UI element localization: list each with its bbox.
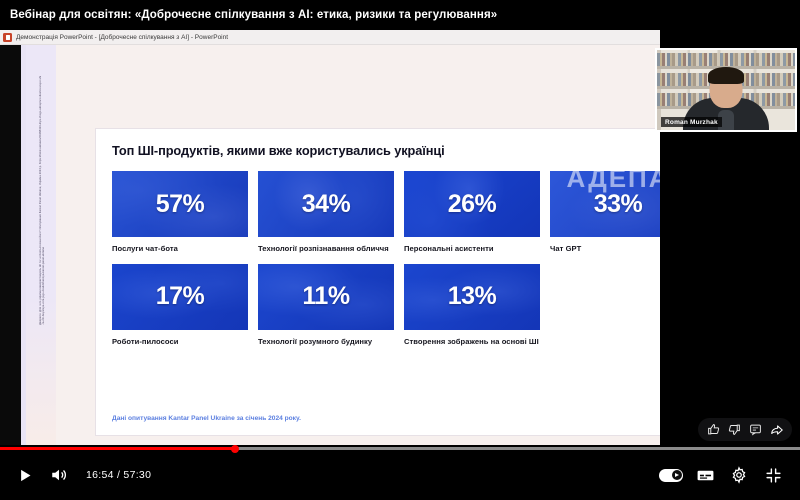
- stat-card-label: Технології розумного будинку: [258, 337, 394, 348]
- stat-card-label: Чат GPT: [550, 244, 660, 255]
- speaker-hair: [708, 67, 744, 84]
- slide-side-strip: Джерело: Для чого українці використовуют…: [26, 45, 56, 445]
- stat-card-image: 13%: [404, 264, 540, 330]
- stat-card-image: 11%: [258, 264, 394, 330]
- stat-card-label: Технології розпізнавання обличчя: [258, 244, 394, 255]
- slide-source-note: Джерело: Для чого українці використовуют…: [40, 75, 46, 325]
- controls-right-group: [654, 458, 800, 492]
- stat-card-label: Послуги чат-бота: [112, 244, 248, 255]
- time-display: 16:54 / 57:30: [76, 469, 159, 481]
- stat-card-percent: 33%: [594, 190, 643, 219]
- progress-played: [0, 447, 235, 450]
- stat-card-image: 26%: [404, 171, 540, 237]
- thumbs-up-icon[interactable]: [705, 421, 722, 438]
- gear-icon[interactable]: [722, 458, 756, 492]
- stat-card: АДЕПА 33% Чат GPT: [550, 171, 660, 255]
- powerpoint-body: Джерело: Для чого українці використовуют…: [0, 45, 660, 445]
- stat-card: 26% Персональні асистенти: [404, 171, 540, 255]
- stat-card-image: 57%: [112, 171, 248, 237]
- stat-card-image: АДЕПА 33%: [550, 171, 660, 237]
- stat-card-percent: 13%: [448, 282, 497, 311]
- play-icon[interactable]: [8, 458, 42, 492]
- progress-bar[interactable]: [0, 447, 800, 450]
- stat-card: 57% Послуги чат-бота: [112, 171, 248, 255]
- stat-card-image: 17%: [112, 264, 248, 330]
- screen-share-region: Демонстрація PowerPoint - [Доброчесне сп…: [0, 30, 800, 445]
- video-player: Вебінар для освітян: «Доброчесне спілкув…: [0, 0, 800, 500]
- stat-card: 17% Роботи-пилососи: [112, 264, 248, 348]
- powerpoint-titlebar: Демонстрація PowerPoint - [Доброчесне сп…: [0, 30, 660, 45]
- speaker-video-tile[interactable]: Roman Murzhak: [655, 48, 797, 132]
- stat-card-label: Персональні асистенти: [404, 244, 540, 255]
- volume-icon[interactable]: [42, 458, 76, 492]
- slide-source-caption: Дані опитування Kantar Panel Ukraine за …: [112, 415, 301, 422]
- comment-icon[interactable]: [747, 421, 764, 438]
- stat-card-percent: 34%: [302, 190, 351, 219]
- webinar-title: Вебінар для освітян: «Доброчесне спілкув…: [0, 9, 497, 21]
- stat-card-label: Роботи-пилососи: [112, 337, 248, 348]
- stat-card-label: Створення зображень на основі ШІ: [404, 337, 540, 348]
- stat-card: 11% Технології розумного будинку: [258, 264, 394, 348]
- stat-card-percent: 11%: [302, 282, 349, 311]
- share-icon[interactable]: [768, 421, 785, 438]
- thumbs-down-icon[interactable]: [726, 421, 743, 438]
- powerpoint-window: Демонстрація PowerPoint - [Доброчесне сп…: [0, 30, 660, 445]
- exit-fullscreen-icon[interactable]: [756, 458, 790, 492]
- stat-card-percent: 17%: [156, 282, 205, 311]
- stat-card-percent: 26%: [448, 190, 497, 219]
- slide-heading: Топ ШІ-продуктів, якими вже користувалис…: [112, 143, 660, 158]
- stat-card-image: 34%: [258, 171, 394, 237]
- player-controls: 16:54 / 57:30: [0, 445, 800, 500]
- powerpoint-window-title: Демонстрація PowerPoint - [Доброчесне сп…: [16, 34, 228, 41]
- progress-scrubber[interactable]: [231, 445, 239, 453]
- stat-card: 13% Створення зображень на основі ШІ: [404, 264, 540, 348]
- video-action-bar: [698, 418, 792, 441]
- presentation-slide: Топ ШІ-продуктів, якими вже користувалис…: [96, 129, 660, 435]
- speaker-name-label: Roman Murzhak: [661, 117, 722, 127]
- powerpoint-icon: [3, 33, 12, 42]
- stat-card: 34% Технології розпізнавання обличчя: [258, 171, 394, 255]
- stat-card-grid: 57% Послуги чат-бота 34% Технології розп…: [112, 171, 660, 347]
- autoplay-toggle-icon[interactable]: [654, 458, 688, 492]
- subtitles-icon[interactable]: [688, 458, 722, 492]
- controls-left-group: 16:54 / 57:30: [0, 458, 159, 492]
- webinar-caption-bar: Вебінар для освітян: «Доброчесне спілкув…: [0, 0, 800, 30]
- stat-card-percent: 57%: [156, 190, 205, 219]
